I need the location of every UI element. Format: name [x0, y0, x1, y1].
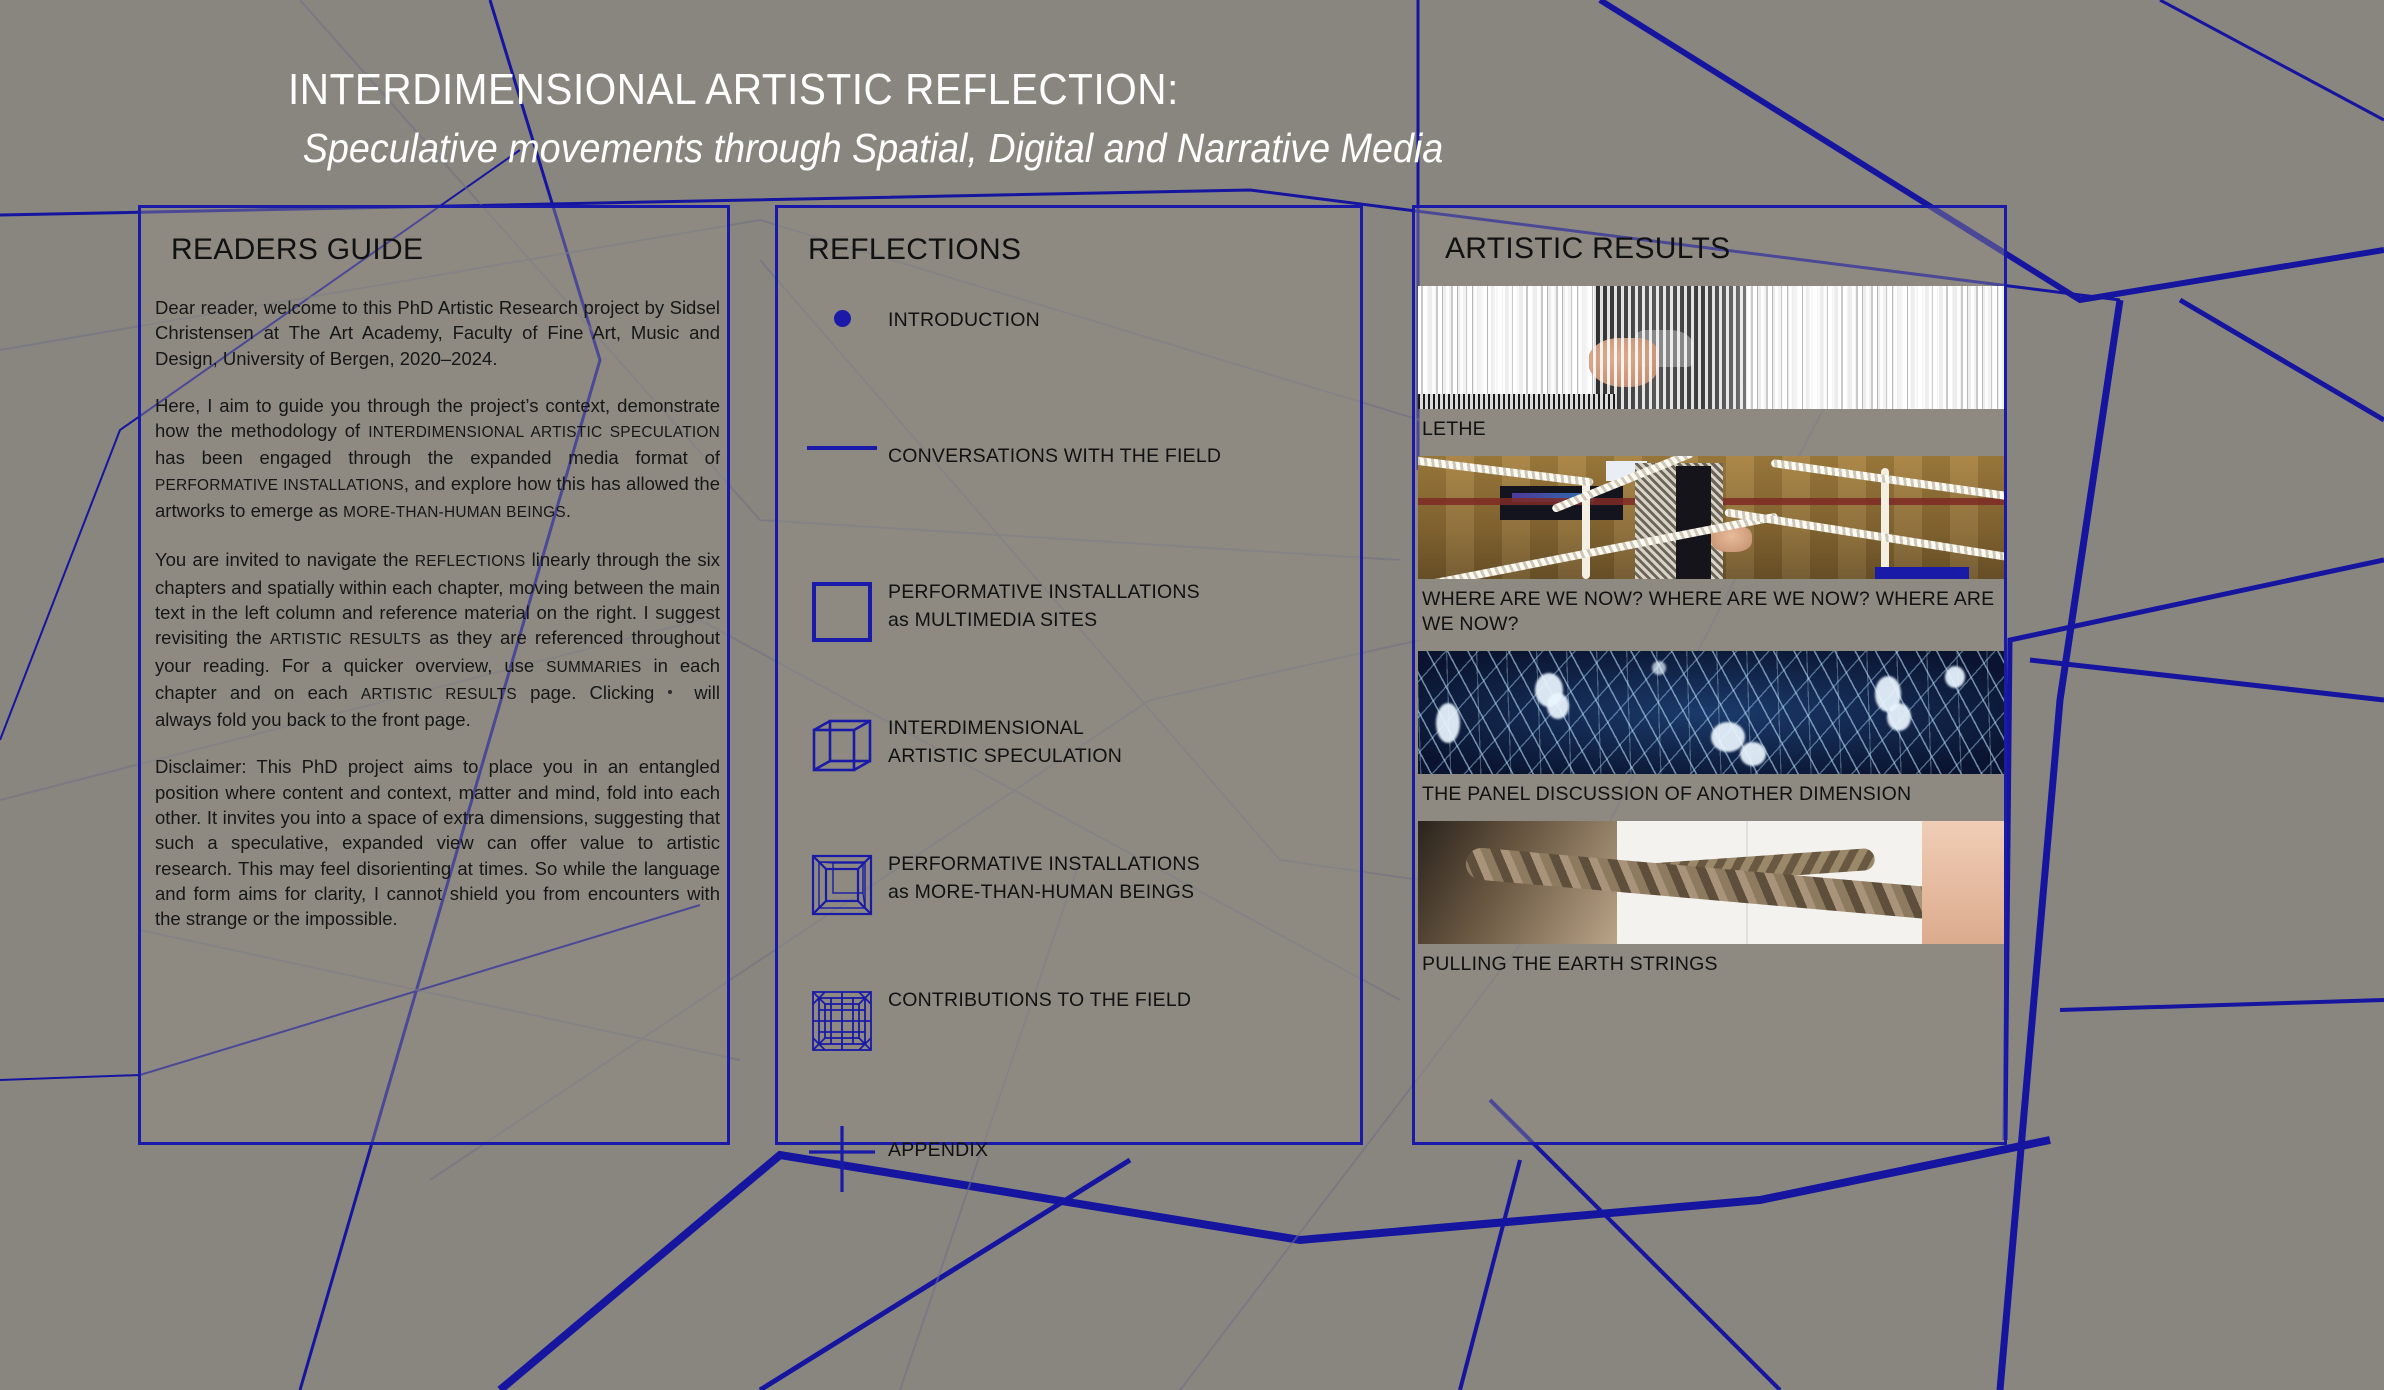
artistic-result-caption: LETHE [1418, 409, 2004, 456]
paragraph-intro: Dear reader, welcome to this PhD Artisti… [155, 295, 720, 371]
square-icon [796, 578, 888, 642]
term-artistic-results-2: ARTISTIC RESULTS [361, 686, 517, 703]
artistic-results-panel: ARTISTIC RESULTS LETHE WHERE ARE WE NOW?… [1412, 205, 2007, 1145]
reflections-item-label-second-line: as MORE-THAN-HUMAN BEINGS [888, 881, 1194, 903]
reflections-title: REFLECTIONS [808, 233, 1021, 267]
thumbnail-where-are-we-now[interactable] [1418, 456, 2004, 579]
penteract-icon [796, 986, 888, 1052]
paragraph-disclaimer: Disclaimer: This PhD project aims to pla… [155, 754, 720, 931]
term-interdimensional-artistic-speculation: INTERDIMENSIONAL ARTISTIC SPECULATION [368, 424, 720, 441]
term-performative-installations: PERFORMATIVE INSTALLATIONS [155, 477, 404, 494]
reflections-item-label: PERFORMATIVE INSTALLATIONS [888, 581, 1200, 603]
artistic-result-caption: THE PANEL DISCUSSION OF ANOTHER DIMENSIO… [1418, 774, 2004, 821]
paragraph-methodology: Here, I aim to guide you through the pro… [155, 393, 720, 525]
term-artistic-results: ARTISTIC RESULTS [270, 631, 421, 648]
readers-guide-title: READERS GUIDE [171, 233, 423, 267]
artistic-results-list: LETHE WHERE ARE WE NOW? WHERE ARE WE NOW… [1418, 286, 2004, 991]
point-icon[interactable] [668, 690, 672, 694]
reflections-item-performative-installations-multimedia-sites[interactable]: PERFORMATIVE INSTALLATIONS as MULTIMEDIA… [796, 578, 1356, 714]
point-icon [796, 306, 888, 327]
term-summaries: SUMMARIES [546, 659, 641, 676]
reflections-panel: REFLECTIONS INTRODUCTION CONVERSATIONS W… [775, 205, 1363, 1145]
reflections-list: INTRODUCTION CONVERSATIONS WITH THE FIEL… [796, 306, 1356, 1258]
artistic-result-card-lethe[interactable]: LETHE [1418, 286, 2004, 456]
artistic-results-title: ARTISTIC RESULTS [1445, 232, 1730, 266]
reflections-item-label: APPENDIX [888, 1139, 988, 1161]
plus-icon [796, 1122, 888, 1192]
term-more-than-human-beings: MORE-THAN-HUMAN BEINGS [343, 504, 566, 521]
reflections-item-interdimensional-artistic-speculation[interactable]: INTERDIMENSIONAL ARTISTIC SPECULATION [796, 714, 1356, 850]
reflections-item-label-second-line: as MULTIMEDIA SITES [888, 609, 1097, 631]
artistic-result-caption: PULLING THE EARTH STRINGS [1418, 944, 2004, 991]
reflections-item-introduction[interactable]: INTRODUCTION [796, 306, 1356, 442]
reflections-item-contributions-to-the-field[interactable]: CONTRIBUTIONS TO THE FIELD [796, 986, 1356, 1122]
reflections-item-conversations-with-the-field[interactable]: CONVERSATIONS WITH THE FIELD [796, 442, 1356, 578]
reflections-item-label: CONVERSATIONS WITH THE FIELD [888, 445, 1221, 467]
reflections-item-label: PERFORMATIVE INSTALLATIONS [888, 853, 1200, 875]
paragraph-navigation: You are invited to navigate the REFLECTI… [155, 547, 720, 732]
readers-guide-panel: READERS GUIDE Dear reader, welcome to th… [138, 205, 730, 1145]
reflections-item-performative-installations-more-than-human-beings[interactable]: PERFORMATIVE INSTALLATIONS as MORE-THAN-… [796, 850, 1356, 986]
page-title-block: INTERDIMENSIONAL ARTISTIC REFLECTION: Sp… [288, 68, 1788, 169]
page-title: INTERDIMENSIONAL ARTISTIC REFLECTION: [288, 68, 1668, 112]
tesseract-icon [796, 850, 888, 916]
reflections-item-label-second-line: ARTISTIC SPECULATION [888, 745, 1122, 767]
cube-icon [796, 714, 888, 780]
term-reflections: REFLECTIONS [415, 553, 526, 570]
readers-guide-body: Dear reader, welcome to this PhD Artisti… [155, 295, 720, 954]
artistic-result-caption: WHERE ARE WE NOW? WHERE ARE WE NOW? WHER… [1418, 579, 2004, 651]
line-icon [796, 442, 888, 450]
thumbnail-panel-discussion-of-another-dimension[interactable] [1418, 651, 2004, 774]
artistic-result-card-pulling-the-earth-strings[interactable]: PULLING THE EARTH STRINGS [1418, 821, 2004, 991]
reflections-item-label: CONTRIBUTIONS TO THE FIELD [888, 989, 1191, 1011]
thumbnail-lethe[interactable] [1418, 286, 2004, 409]
artistic-result-card-where-are-we-now[interactable]: WHERE ARE WE NOW? WHERE ARE WE NOW? WHER… [1418, 456, 2004, 651]
thumbnail-pulling-the-earth-strings[interactable] [1418, 821, 2004, 944]
reflections-item-label: INTRODUCTION [888, 309, 1040, 331]
reflections-item-appendix[interactable]: APPENDIX [796, 1122, 1356, 1258]
artistic-result-card-panel-discussion[interactable]: THE PANEL DISCUSSION OF ANOTHER DIMENSIO… [1418, 651, 2004, 821]
page-subtitle: Speculative movements through Spatial, D… [288, 128, 1668, 169]
reflections-item-label: INTERDIMENSIONAL [888, 717, 1084, 739]
